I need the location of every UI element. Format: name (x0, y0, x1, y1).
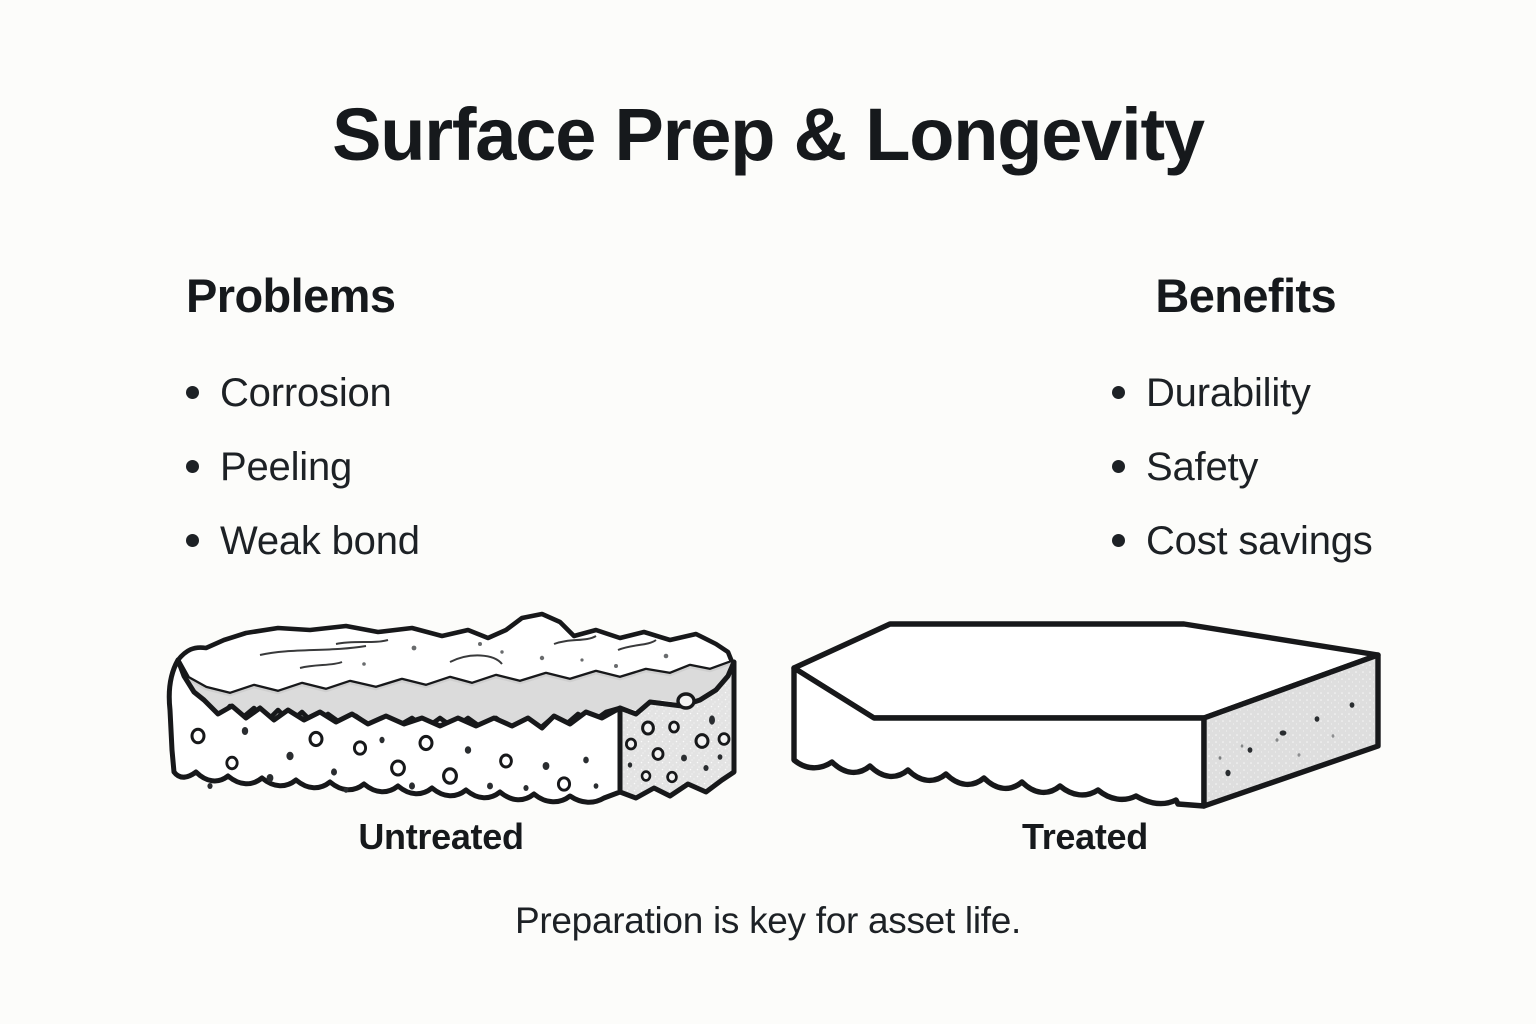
list-item-label: Corrosion (220, 373, 392, 413)
treated-caption: Treated (800, 816, 1370, 858)
bullet-dot-icon (1112, 386, 1125, 399)
list-item-label: Durability (1146, 373, 1311, 413)
treated-slab-icon (780, 600, 1400, 815)
list-item: Durability (1112, 356, 1373, 430)
bullet-dot-icon (1112, 534, 1125, 547)
list-item: Peeling (186, 430, 420, 504)
treated-slab-figure (780, 600, 1400, 815)
problems-heading: Problems (186, 270, 420, 322)
bullet-dot-icon (186, 534, 199, 547)
bullet-dot-icon (186, 460, 199, 473)
untreated-slab-figure (150, 600, 770, 815)
list-item-label: Weak bond (220, 521, 420, 561)
list-item: Cost savings (1112, 504, 1373, 578)
untreated-slab-icon (150, 600, 770, 815)
page-title: Surface Prep & Longevity (0, 96, 1536, 174)
benefits-list: Durability Safety Cost savings (1112, 356, 1373, 578)
list-item: Weak bond (186, 504, 420, 578)
footer-note: Preparation is key for asset life. (0, 900, 1536, 942)
bullet-dot-icon (1112, 460, 1125, 473)
list-item: Safety (1112, 430, 1373, 504)
benefits-column: Benefits Durability Safety Cost savings (1112, 270, 1373, 578)
problems-list: Corrosion Peeling Weak bond (186, 356, 420, 578)
list-item-label: Peeling (220, 447, 352, 487)
list-item-label: Cost savings (1146, 521, 1373, 561)
list-item: Corrosion (186, 356, 420, 430)
infographic-slide: Surface Prep & Longevity Problems Corros… (0, 0, 1536, 1024)
benefits-heading: Benefits (1112, 270, 1336, 322)
bullet-dot-icon (186, 386, 199, 399)
list-item-label: Safety (1146, 447, 1258, 487)
problems-column: Problems Corrosion Peeling Weak bond (186, 270, 420, 578)
untreated-caption: Untreated (150, 816, 732, 858)
